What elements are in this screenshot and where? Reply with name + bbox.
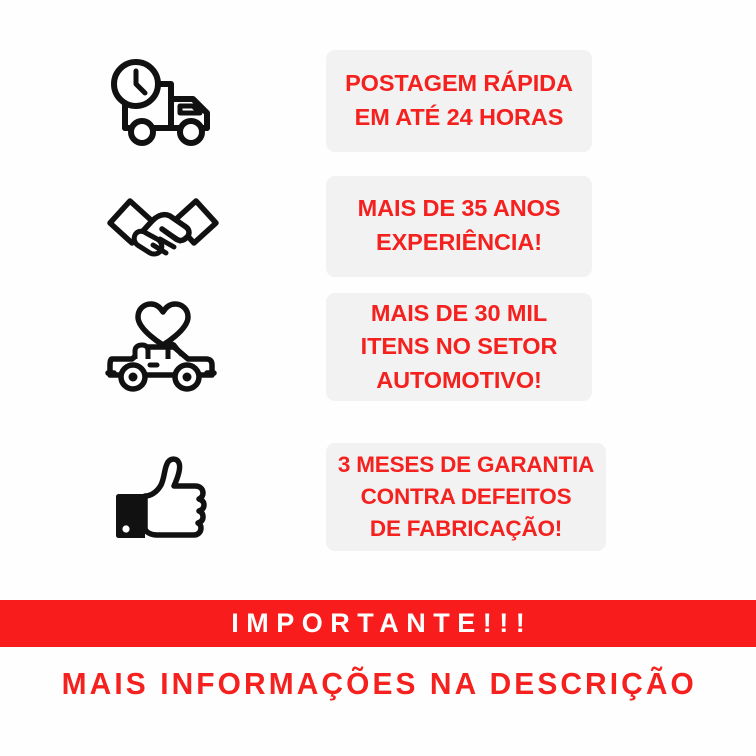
feature-list: POSTAGEM RÁPIDA EM ATÉ 24 HORAS	[0, 0, 756, 598]
feature-label-cell: MAIS DE 30 MIL ITENS NO SETOR AUTOMOTIVO…	[326, 292, 592, 402]
feature-label-box: MAIS DE 30 MIL ITENS NO SETOR AUTOMOTIVO…	[326, 293, 592, 401]
handshake-icon	[104, 183, 222, 269]
feature-icon-cell	[0, 442, 326, 552]
important-label: IMPORTANTE!!!	[224, 608, 532, 639]
feature-label-box: MAIS DE 35 ANOS EXPERIÊNCIA!	[326, 176, 592, 277]
feature-icon-cell	[0, 42, 326, 160]
important-strip: IMPORTANTE!!!	[0, 600, 756, 647]
feature-label-line: MAIS DE 30 MIL	[371, 297, 547, 330]
feature-label-line: 3 MESES DE GARANTIA	[338, 449, 594, 481]
feature-row: 3 MESES DE GARANTIA CONTRA DEFEITOS DE F…	[0, 442, 756, 552]
feature-label-line: POSTAGEM RÁPIDA	[345, 67, 573, 101]
convertible-car-heart-icon	[102, 297, 224, 397]
feature-label-cell: POSTAGEM RÁPIDA EM ATÉ 24 HORAS	[326, 42, 592, 160]
feature-label-line: AUTOMOTIVO!	[376, 364, 542, 397]
feature-label-cell: 3 MESES DE GARANTIA CONTRA DEFEITOS DE F…	[326, 442, 606, 552]
feature-row: MAIS DE 35 ANOS EXPERIÊNCIA!	[0, 172, 756, 280]
feature-label-box: 3 MESES DE GARANTIA CONTRA DEFEITOS DE F…	[326, 443, 606, 551]
feature-row: POSTAGEM RÁPIDA EM ATÉ 24 HORAS	[0, 42, 756, 160]
feature-icon-cell	[0, 172, 326, 280]
feature-label-line: EXPERIÊNCIA!	[376, 226, 542, 260]
description-label: MAIS INFORMAÇÕES NA DESCRIÇÃO	[59, 666, 697, 702]
promo-banner: POSTAGEM RÁPIDA EM ATÉ 24 HORAS	[0, 0, 756, 756]
feature-icon-cell	[0, 292, 326, 402]
feature-label-line: EM ATÉ 24 HORAS	[355, 101, 564, 135]
feature-label-line: ITENS NO SETOR	[361, 330, 558, 363]
feature-row: MAIS DE 30 MIL ITENS NO SETOR AUTOMOTIVO…	[0, 292, 756, 402]
feature-label-line: MAIS DE 35 ANOS	[358, 192, 561, 226]
feature-label-line: DE FABRICAÇÃO!	[370, 513, 562, 545]
feature-label-line: CONTRA DEFEITOS	[361, 481, 572, 513]
description-line: MAIS INFORMAÇÕES NA DESCRIÇÃO	[0, 658, 756, 710]
thumbs-up-icon	[111, 450, 215, 544]
feature-label-cell: MAIS DE 35 ANOS EXPERIÊNCIA!	[326, 172, 592, 280]
delivery-truck-clock-icon	[105, 54, 221, 148]
feature-label-box: POSTAGEM RÁPIDA EM ATÉ 24 HORAS	[326, 50, 592, 152]
